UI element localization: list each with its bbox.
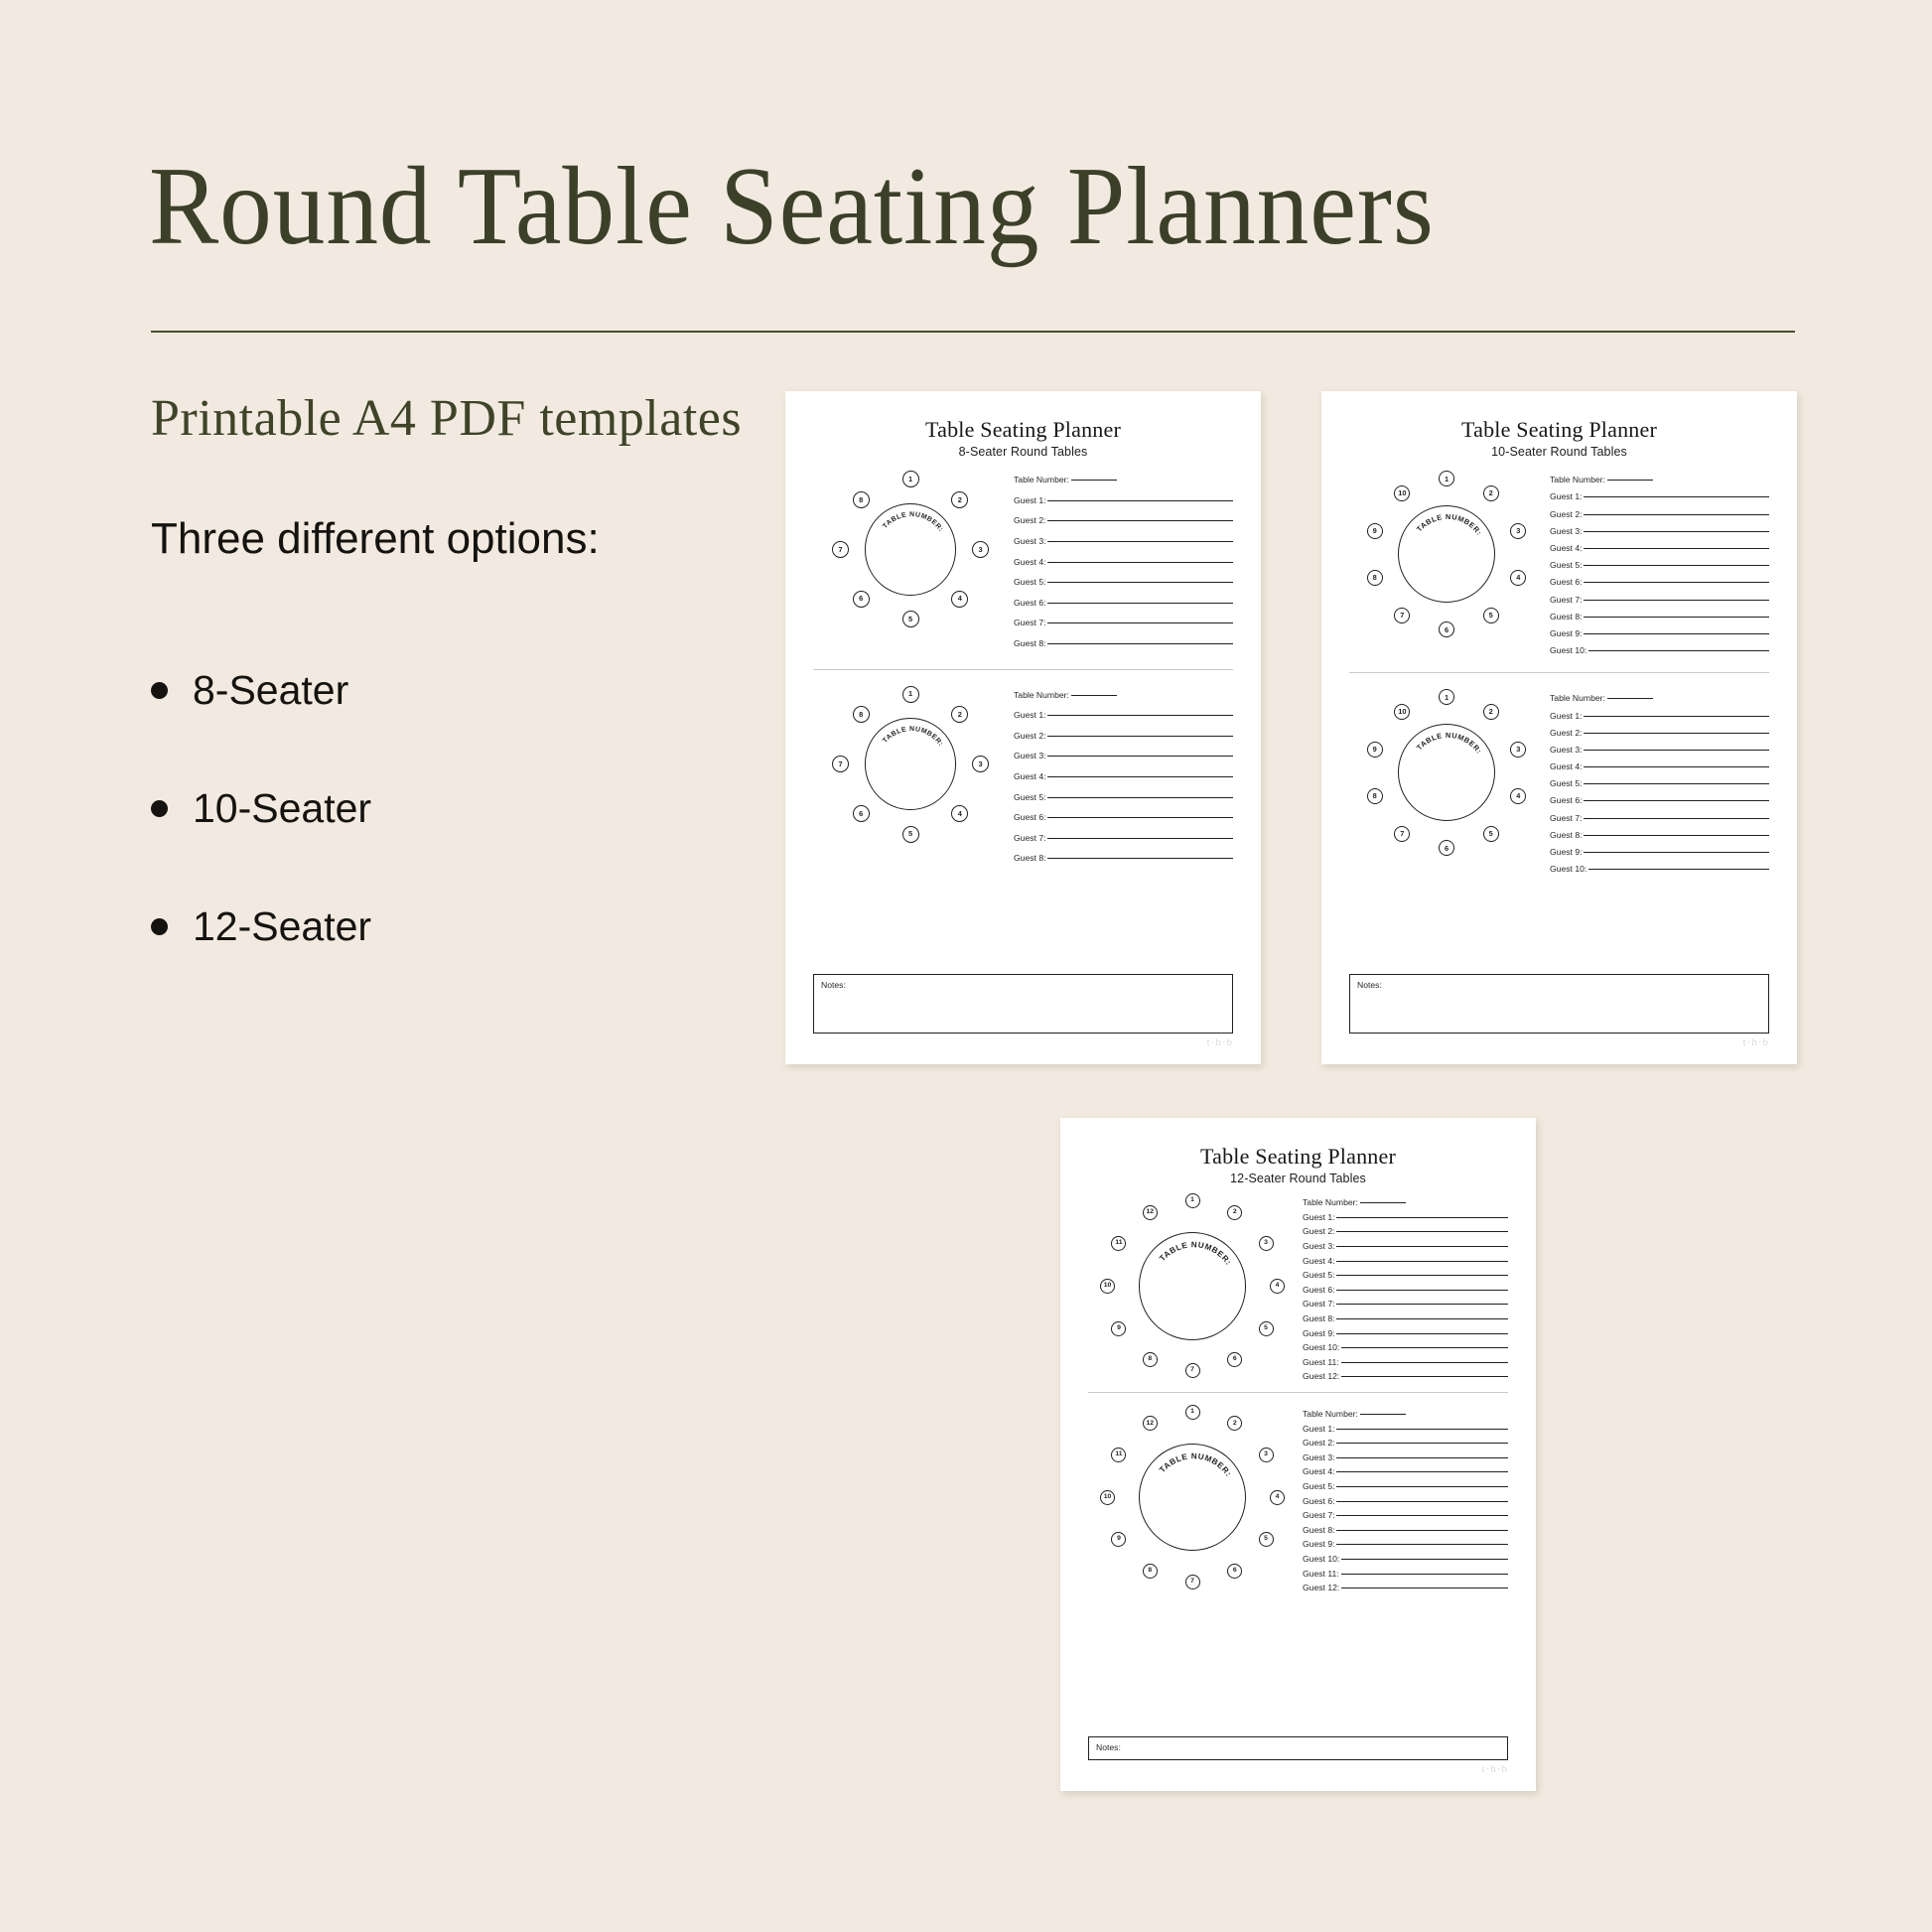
seat-7: 7 xyxy=(1394,826,1410,842)
guest-label: Guest 1: xyxy=(1550,491,1582,501)
guest-field[interactable]: Guest 5: xyxy=(1014,792,1233,813)
table-number-arc-label: TABLE NUMBER: xyxy=(1399,725,1496,822)
table-number-field[interactable]: Table Number: xyxy=(1303,1409,1508,1424)
guest-field[interactable]: Guest 7: xyxy=(1014,618,1233,638)
guest-field[interactable]: Guest 9: xyxy=(1550,847,1769,864)
guest-rule xyxy=(1047,817,1233,818)
guest-rule xyxy=(1341,1559,1508,1560)
guest-label: Guest 11: xyxy=(1303,1569,1339,1579)
guest-field[interactable]: Guest 5: xyxy=(1550,560,1769,577)
guest-field[interactable]: Guest 7: xyxy=(1014,833,1233,854)
table-block: TABLE NUMBER:12345678910Table Number:Gue… xyxy=(1349,461,1769,672)
guest-field[interactable]: Guest 1: xyxy=(1550,711,1769,728)
guest-label: Guest 8: xyxy=(1303,1313,1334,1323)
seat-2: 2 xyxy=(1483,485,1499,501)
guest-field[interactable]: Guest 7: xyxy=(1303,1510,1508,1525)
guest-label: Guest 5: xyxy=(1303,1270,1334,1280)
guest-rule xyxy=(1336,1275,1508,1276)
seat-1: 1 xyxy=(902,471,919,487)
svg-text:TABLE NUMBER:: TABLE NUMBER: xyxy=(882,726,944,748)
guest-rule xyxy=(1336,1261,1508,1262)
seat-2: 2 xyxy=(951,706,968,723)
seat-5: 5 xyxy=(1483,826,1499,842)
guest-rule xyxy=(1047,500,1233,501)
seat-8: 8 xyxy=(853,491,870,508)
seat-3: 3 xyxy=(1259,1236,1274,1251)
guest-rule xyxy=(1047,622,1233,623)
guest-rule xyxy=(1588,869,1769,870)
guest-rule xyxy=(1584,818,1769,819)
table-circle: TABLE NUMBER: xyxy=(865,503,956,595)
brand-watermark: t·h·b xyxy=(1088,1760,1508,1775)
guest-field[interactable]: Guest 2: xyxy=(1550,509,1769,526)
guest-rule xyxy=(1336,1501,1508,1502)
page-title: Round Table Seating Planners xyxy=(149,151,1698,262)
table-number-arc-label: TABLE NUMBER: xyxy=(1399,506,1496,604)
seat-8: 8 xyxy=(1143,1352,1158,1367)
notes-box[interactable]: Notes: xyxy=(813,974,1233,1034)
guest-field[interactable]: Guest 5: xyxy=(1303,1270,1508,1285)
guest-label: Guest 3: xyxy=(1303,1452,1334,1462)
sheet-subtitle: 10-Seater Round Tables xyxy=(1349,445,1769,459)
guest-rule xyxy=(1584,617,1769,618)
guest-label: Guest 4: xyxy=(1014,557,1045,567)
guest-field[interactable]: Guest 8: xyxy=(1303,1525,1508,1540)
guest-label: Guest 8: xyxy=(1550,612,1582,621)
guest-rule xyxy=(1584,766,1769,767)
guest-rule xyxy=(1047,603,1233,604)
table-number-rule xyxy=(1607,480,1653,481)
guest-rule xyxy=(1047,541,1233,542)
table-circle: TABLE NUMBER: xyxy=(1139,1232,1247,1340)
guest-field[interactable]: Guest 7: xyxy=(1303,1299,1508,1313)
guest-field[interactable]: Guest 2: xyxy=(1303,1226,1508,1241)
options-heading: Three different options: xyxy=(151,514,600,564)
guest-label: Guest 5: xyxy=(1550,778,1582,788)
brand-watermark: t·h·b xyxy=(813,1034,1233,1048)
guest-rule xyxy=(1584,600,1769,601)
svg-text:TABLE NUMBER:: TABLE NUMBER: xyxy=(1158,1451,1233,1478)
diagram-container: TABLE NUMBER:12345678910 xyxy=(1349,471,1544,637)
seat-10: 10 xyxy=(1100,1279,1115,1294)
guest-field[interactable]: Guest 5: xyxy=(1303,1481,1508,1496)
table-number-arc-label: TABLE NUMBER: xyxy=(1140,1233,1248,1341)
guest-field[interactable]: Guest 9: xyxy=(1303,1328,1508,1343)
guest-rule xyxy=(1584,800,1769,801)
guest-label: Guest 2: xyxy=(1014,515,1045,525)
table-number-rule xyxy=(1607,698,1653,699)
guest-field[interactable]: Guest 1: xyxy=(1303,1424,1508,1439)
guest-label: Guest 4: xyxy=(1550,761,1582,771)
table-number-field[interactable]: Table Number: xyxy=(1550,475,1769,491)
guest-list: Table Number:Guest 1:Guest 2:Guest 3:Gue… xyxy=(1303,1405,1508,1597)
seat-10: 10 xyxy=(1394,704,1410,720)
guest-field[interactable]: Guest 10: xyxy=(1550,864,1769,881)
guest-label: Guest 1: xyxy=(1550,711,1582,721)
guest-rule xyxy=(1584,531,1769,532)
option-item: 10-Seater xyxy=(151,750,766,868)
guest-label: Guest 6: xyxy=(1014,598,1045,608)
guest-field[interactable]: Guest 6: xyxy=(1303,1285,1508,1300)
seat-8: 8 xyxy=(1143,1564,1158,1579)
table-block: TABLE NUMBER:12345678Table Number:Guest … xyxy=(813,669,1233,884)
seat-1: 1 xyxy=(1439,471,1454,486)
guest-field[interactable]: Guest 3: xyxy=(1303,1452,1508,1467)
guest-field[interactable]: Guest 2: xyxy=(1550,728,1769,745)
seat-2: 2 xyxy=(951,491,968,508)
bullet-icon xyxy=(151,800,168,817)
seat-6: 6 xyxy=(1227,1352,1242,1367)
table-block: TABLE NUMBER:12345678Table Number:Guest … xyxy=(813,461,1233,668)
guest-label: Guest 12: xyxy=(1303,1371,1339,1381)
guest-field[interactable]: Guest 5: xyxy=(1014,577,1233,598)
seat-5: 5 xyxy=(1483,608,1499,623)
guest-label: Guest 10: xyxy=(1550,864,1587,874)
guest-rule xyxy=(1047,756,1233,757)
guest-field[interactable]: Guest 1: xyxy=(1014,495,1233,516)
guest-field[interactable]: Guest 9: xyxy=(1303,1539,1508,1554)
seat-9: 9 xyxy=(1367,742,1383,758)
guest-field[interactable]: Guest 4: xyxy=(1550,543,1769,560)
table-number-field[interactable]: Table Number: xyxy=(1014,475,1233,495)
guest-rule xyxy=(1336,1530,1508,1531)
seat-3: 3 xyxy=(972,756,989,772)
guest-label: Guest 5: xyxy=(1550,560,1582,570)
seat-4: 4 xyxy=(1270,1279,1285,1294)
guest-field[interactable]: Guest 11: xyxy=(1303,1357,1508,1372)
guest-rule xyxy=(1584,565,1769,566)
guest-label: Guest 7: xyxy=(1550,813,1582,823)
table-circle: TABLE NUMBER: xyxy=(865,718,956,809)
guest-list: Table Number:Guest 1:Guest 2:Guest 3:Gue… xyxy=(1303,1193,1508,1386)
seat-3: 3 xyxy=(972,541,989,558)
guest-rule xyxy=(1584,548,1769,549)
guest-rule xyxy=(1584,835,1769,836)
guest-rule xyxy=(1047,797,1233,798)
guest-rule xyxy=(1341,1574,1508,1575)
guest-field[interactable]: Guest 3: xyxy=(1303,1241,1508,1256)
table-circle: TABLE NUMBER: xyxy=(1398,724,1495,821)
seat-12: 12 xyxy=(1143,1205,1158,1220)
table-block: TABLE NUMBER:12345678910Table Number:Gue… xyxy=(1349,672,1769,891)
seat-5: 5 xyxy=(1259,1532,1274,1547)
svg-text:TABLE NUMBER:: TABLE NUMBER: xyxy=(1415,512,1484,537)
diagram-container: TABLE NUMBER:12345678 xyxy=(813,686,1008,843)
guest-label: Guest 7: xyxy=(1014,618,1045,627)
guest-field[interactable]: Guest 6: xyxy=(1550,577,1769,594)
guest-label: Guest 4: xyxy=(1303,1256,1334,1266)
guest-label: Guest 7: xyxy=(1303,1299,1334,1309)
guest-field[interactable]: Guest 1: xyxy=(1014,710,1233,731)
guest-rule xyxy=(1584,582,1769,583)
guest-field[interactable]: Guest 6: xyxy=(1014,812,1233,833)
guest-rule xyxy=(1584,852,1769,853)
table-number-label: Table Number: xyxy=(1303,1197,1358,1207)
guest-field[interactable]: Guest 4: xyxy=(1014,771,1233,792)
guest-field[interactable]: Guest 8: xyxy=(1014,853,1233,874)
guest-field[interactable]: Guest 3: xyxy=(1550,745,1769,761)
guest-label: Guest 6: xyxy=(1550,577,1582,587)
guest-rule xyxy=(1336,1443,1508,1444)
seat-4: 4 xyxy=(1270,1490,1285,1505)
seat-1: 1 xyxy=(1439,689,1454,705)
guest-rule xyxy=(1047,776,1233,777)
guest-label: Guest 10: xyxy=(1303,1342,1339,1352)
guest-rule xyxy=(1341,1376,1508,1377)
guest-rule xyxy=(1341,1347,1508,1348)
table-block: TABLE NUMBER:123456789101112Table Number… xyxy=(1088,1187,1508,1392)
svg-text:TABLE NUMBER:: TABLE NUMBER: xyxy=(882,511,944,533)
guest-label: Guest 3: xyxy=(1014,536,1045,546)
seat-3: 3 xyxy=(1510,742,1526,758)
seat-6: 6 xyxy=(1439,621,1454,637)
table-number-rule xyxy=(1360,1202,1406,1203)
seat-1: 1 xyxy=(1185,1405,1200,1420)
guest-label: Guest 6: xyxy=(1303,1496,1334,1506)
guest-rule xyxy=(1336,1304,1508,1305)
guest-field[interactable]: Guest 9: xyxy=(1550,628,1769,645)
option-label: 12-Seater xyxy=(193,903,371,950)
sheet-preview-10-seater[interactable]: Table Seating Planner10-Seater Round Tab… xyxy=(1321,391,1797,1064)
options-list: 8-Seater10-Seater12-Seater xyxy=(151,631,766,986)
guest-field[interactable]: Guest 6: xyxy=(1014,598,1233,619)
guest-label: Guest 6: xyxy=(1303,1285,1334,1295)
guest-field[interactable]: Guest 8: xyxy=(1550,830,1769,847)
guest-rule xyxy=(1336,1318,1508,1319)
guest-rule xyxy=(1341,1362,1508,1363)
guest-field[interactable]: Guest 10: xyxy=(1303,1554,1508,1569)
seat-4: 4 xyxy=(951,591,968,608)
seat-10: 10 xyxy=(1394,485,1410,501)
seat-6: 6 xyxy=(853,591,870,608)
diagram-container: TABLE NUMBER:123456789101112 xyxy=(1088,1405,1297,1589)
guest-rule xyxy=(1047,643,1233,644)
seat-6: 6 xyxy=(1439,840,1454,856)
seating-diagram: TABLE NUMBER:123456789101112 xyxy=(1100,1405,1285,1589)
guest-field[interactable]: Guest 6: xyxy=(1550,795,1769,812)
guest-label: Guest 11: xyxy=(1303,1357,1339,1367)
seat-4: 4 xyxy=(951,805,968,822)
guest-field[interactable]: Guest 3: xyxy=(1014,536,1233,557)
seat-8: 8 xyxy=(1367,570,1383,586)
guest-rule xyxy=(1336,1217,1508,1218)
guest-label: Guest 10: xyxy=(1550,645,1587,655)
table-number-arc-label: TABLE NUMBER: xyxy=(866,719,957,810)
table-number-field[interactable]: Table Number: xyxy=(1550,693,1769,710)
guest-field[interactable]: Guest 11: xyxy=(1303,1569,1508,1584)
seating-diagram: TABLE NUMBER:123456789101112 xyxy=(1100,1193,1285,1378)
option-label: 8-Seater xyxy=(193,667,348,714)
guest-label: Guest 8: xyxy=(1014,638,1045,648)
guest-label: Guest 3: xyxy=(1303,1241,1334,1251)
table-number-label: Table Number: xyxy=(1303,1409,1358,1419)
guest-list: Table Number:Guest 1:Guest 2:Guest 3:Gue… xyxy=(1014,686,1233,874)
guest-rule xyxy=(1047,858,1233,859)
guest-label: Guest 1: xyxy=(1014,710,1045,720)
guest-field[interactable]: Guest 4: xyxy=(1303,1256,1508,1271)
sheet-preview-12-seater[interactable]: Table Seating Planner12-Seater Round Tab… xyxy=(1060,1118,1536,1791)
seat-8: 8 xyxy=(1367,788,1383,804)
seat-6: 6 xyxy=(1227,1564,1242,1579)
table-number-rule xyxy=(1071,695,1117,696)
guest-label: Guest 7: xyxy=(1303,1510,1334,1520)
seat-6: 6 xyxy=(853,805,870,822)
notes-box[interactable]: Notes: xyxy=(1088,1736,1508,1760)
guest-rule xyxy=(1584,716,1769,717)
guest-rule xyxy=(1584,514,1769,515)
guest-field[interactable]: Guest 3: xyxy=(1550,526,1769,543)
guest-field[interactable]: Guest 10: xyxy=(1303,1342,1508,1357)
guest-label: Guest 4: xyxy=(1550,543,1582,553)
guest-label: Guest 2: xyxy=(1303,1226,1334,1236)
guest-field[interactable]: Guest 8: xyxy=(1303,1313,1508,1328)
guest-label: Guest 2: xyxy=(1550,728,1582,738)
guest-field[interactable]: Guest 7: xyxy=(1550,595,1769,612)
seat-11: 11 xyxy=(1111,1448,1126,1462)
sheet-subtitle: 8-Seater Round Tables xyxy=(813,445,1233,459)
guest-label: Guest 3: xyxy=(1550,526,1582,536)
guest-rule xyxy=(1584,750,1769,751)
guest-label: Guest 5: xyxy=(1014,577,1045,587)
guest-field[interactable]: Guest 4: xyxy=(1014,557,1233,578)
guest-list: Table Number:Guest 1:Guest 2:Guest 3:Gue… xyxy=(1014,471,1233,658)
guest-rule xyxy=(1336,1231,1508,1232)
guest-label: Guest 6: xyxy=(1014,812,1045,822)
guest-field[interactable]: Guest 5: xyxy=(1550,778,1769,795)
guest-label: Guest 7: xyxy=(1014,833,1045,843)
sheet-subtitle: 12-Seater Round Tables xyxy=(1088,1172,1508,1185)
guest-label: Guest 6: xyxy=(1550,795,1582,805)
sheet-header: Table Seating Planner8-Seater Round Tabl… xyxy=(813,417,1233,459)
diagram-container: TABLE NUMBER:12345678910 xyxy=(1349,689,1544,856)
guest-field[interactable]: Guest 8: xyxy=(1014,638,1233,659)
guest-list: Table Number:Guest 1:Guest 2:Guest 3:Gue… xyxy=(1550,689,1769,881)
table-number-field[interactable]: Table Number: xyxy=(1303,1197,1508,1212)
sheet-header: Table Seating Planner10-Seater Round Tab… xyxy=(1349,417,1769,459)
guest-field[interactable]: Guest 7: xyxy=(1550,813,1769,830)
guest-label: Guest 9: xyxy=(1550,847,1582,857)
sheet-title: Table Seating Planner xyxy=(813,417,1233,442)
guest-field[interactable]: Guest 2: xyxy=(1014,731,1233,752)
seat-7: 7 xyxy=(1185,1575,1200,1589)
option-item: 8-Seater xyxy=(151,631,766,750)
guest-label: Guest 9: xyxy=(1550,628,1582,638)
guest-label: Guest 1: xyxy=(1014,495,1045,505)
sheet-header: Table Seating Planner12-Seater Round Tab… xyxy=(1088,1144,1508,1185)
guest-rule xyxy=(1336,1246,1508,1247)
option-label: 10-Seater xyxy=(193,785,371,832)
table-number-label: Table Number: xyxy=(1550,475,1605,484)
guest-label: Guest 12: xyxy=(1303,1583,1339,1592)
sheet-title: Table Seating Planner xyxy=(1349,417,1769,442)
guest-field[interactable]: Guest 6: xyxy=(1303,1496,1508,1511)
option-item: 12-Seater xyxy=(151,868,766,986)
guest-label: Guest 5: xyxy=(1303,1481,1334,1491)
seating-diagram: TABLE NUMBER:12345678910 xyxy=(1363,689,1530,856)
guest-label: Guest 8: xyxy=(1014,853,1045,863)
brand-watermark: t·h·b xyxy=(1349,1034,1769,1048)
guest-label: Guest 1: xyxy=(1303,1212,1334,1222)
guest-rule xyxy=(1047,520,1233,521)
table-number-label: Table Number: xyxy=(1014,475,1069,484)
sheet-body: Table Seating Planner10-Seater Round Tab… xyxy=(1321,391,1797,1064)
seat-4: 4 xyxy=(1510,788,1526,804)
sheet-preview-8-seater[interactable]: Table Seating Planner8-Seater Round Tabl… xyxy=(785,391,1261,1064)
guest-label: Guest 2: xyxy=(1014,731,1045,741)
seat-9: 9 xyxy=(1111,1532,1126,1547)
bullet-icon xyxy=(151,682,168,699)
seating-diagram: TABLE NUMBER:12345678910 xyxy=(1363,471,1530,637)
table-circle: TABLE NUMBER: xyxy=(1398,505,1495,603)
guest-field[interactable]: Guest 10: xyxy=(1550,645,1769,662)
guest-field[interactable]: Guest 1: xyxy=(1303,1212,1508,1227)
guest-label: Guest 10: xyxy=(1303,1554,1339,1564)
guest-field[interactable]: Guest 3: xyxy=(1014,751,1233,771)
diagram-container: TABLE NUMBER:123456789101112 xyxy=(1088,1193,1297,1378)
seat-1: 1 xyxy=(902,686,919,703)
guest-rule xyxy=(1047,582,1233,583)
guest-field[interactable]: Guest 12: xyxy=(1303,1371,1508,1386)
sheet-spacer xyxy=(1349,891,1769,968)
guest-field[interactable]: Guest 1: xyxy=(1550,491,1769,508)
guest-field[interactable]: Guest 2: xyxy=(1303,1438,1508,1452)
guest-label: Guest 4: xyxy=(1303,1466,1334,1476)
guest-rule xyxy=(1341,1587,1508,1588)
guest-label: Guest 7: xyxy=(1550,595,1582,605)
guest-rule xyxy=(1336,1429,1508,1430)
guest-field[interactable]: Guest 4: xyxy=(1550,761,1769,778)
seat-5: 5 xyxy=(902,826,919,843)
seat-11: 11 xyxy=(1111,1236,1126,1251)
table-number-label: Table Number: xyxy=(1014,690,1069,700)
bullet-icon xyxy=(151,918,168,935)
guest-label: Guest 3: xyxy=(1550,745,1582,755)
guest-label: Guest 9: xyxy=(1303,1328,1334,1338)
guest-label: Guest 1: xyxy=(1303,1424,1334,1434)
guest-field[interactable]: Guest 12: xyxy=(1303,1583,1508,1597)
seat-9: 9 xyxy=(1111,1321,1126,1336)
seat-4: 4 xyxy=(1510,570,1526,586)
seat-5: 5 xyxy=(1259,1321,1274,1336)
guest-label: Guest 8: xyxy=(1303,1525,1334,1535)
guest-rule xyxy=(1336,1290,1508,1291)
sheet-spacer xyxy=(1088,1603,1508,1730)
guest-field[interactable]: Guest 4: xyxy=(1303,1466,1508,1481)
guest-field[interactable]: Guest 2: xyxy=(1014,515,1233,536)
table-number-field[interactable]: Table Number: xyxy=(1014,690,1233,711)
guest-rule xyxy=(1047,838,1233,839)
guest-rule xyxy=(1047,562,1233,563)
svg-text:TABLE NUMBER:: TABLE NUMBER: xyxy=(1158,1240,1233,1267)
guest-label: Guest 4: xyxy=(1014,771,1045,781)
guest-rule xyxy=(1336,1544,1508,1545)
diagram-container: TABLE NUMBER:12345678 xyxy=(813,471,1008,627)
notes-box[interactable]: Notes: xyxy=(1349,974,1769,1034)
guest-rule xyxy=(1047,715,1233,716)
seat-1: 1 xyxy=(1185,1193,1200,1208)
subtitle-printable-templates: Printable A4 PDF templates xyxy=(151,389,742,448)
guest-label: Guest 8: xyxy=(1550,830,1582,840)
guest-rule xyxy=(1584,783,1769,784)
guest-label: Guest 9: xyxy=(1303,1539,1334,1549)
table-number-rule xyxy=(1071,480,1117,481)
seat-3: 3 xyxy=(1259,1448,1274,1462)
seat-2: 2 xyxy=(1227,1416,1242,1431)
guest-label: Guest 5: xyxy=(1014,792,1045,802)
guest-field[interactable]: Guest 8: xyxy=(1550,612,1769,628)
svg-text:TABLE NUMBER:: TABLE NUMBER: xyxy=(1415,731,1484,756)
guest-rule xyxy=(1336,1471,1508,1472)
